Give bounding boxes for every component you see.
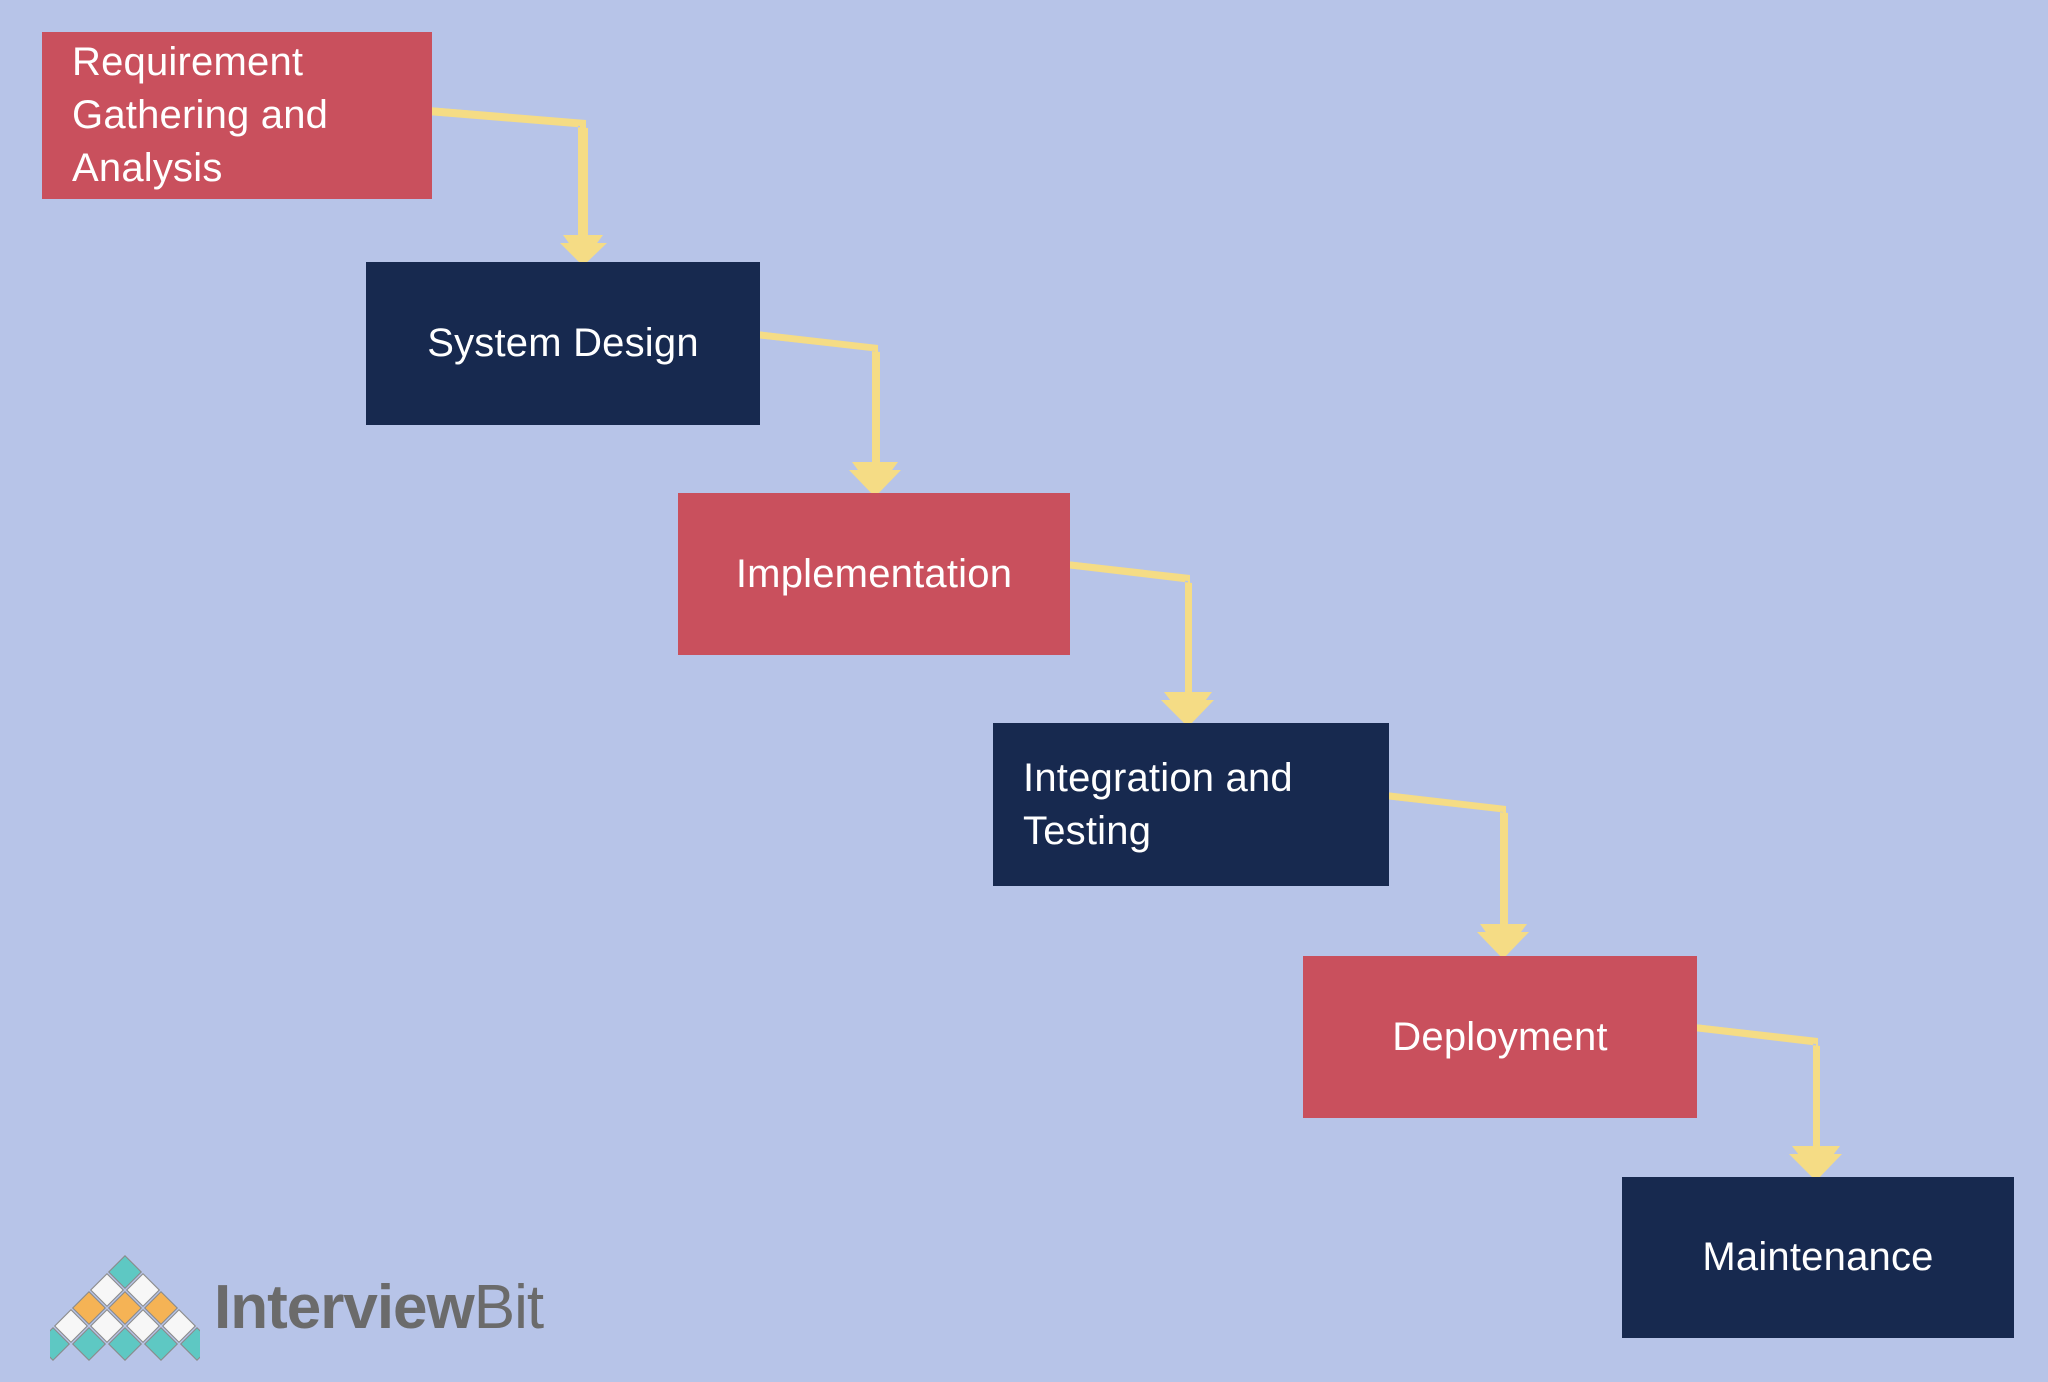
stage-label-integration-and-testing: Integration and Testing <box>1023 752 1293 858</box>
stage-label-implementation: Implementation <box>736 548 1012 601</box>
logo-word-bit: Bit <box>474 1273 543 1342</box>
interviewbit-logo-text: InterviewBit <box>214 1277 543 1339</box>
interviewbit-logo: InterviewBit <box>50 1248 550 1368</box>
stage-label-deployment: Deployment <box>1392 1011 1607 1064</box>
arrow-deployment-to-maintenance <box>1694 1024 1842 1181</box>
stage-box-integration-and-testing[interactable]: Integration and Testing <box>993 723 1389 886</box>
interviewbit-logo-mark <box>50 1251 200 1366</box>
diagram-canvas: Requirement Gathering and Analysis Syste… <box>0 0 2048 1382</box>
arrow-system-design-to-implementation <box>756 331 901 497</box>
stage-box-deployment[interactable]: Deployment <box>1303 956 1697 1118</box>
stage-label-requirement-gathering-and-analysis: Requirement Gathering and Analysis <box>72 36 328 194</box>
stage-label-maintenance: Maintenance <box>1702 1231 1933 1284</box>
arrow-implementation-to-integration <box>1066 561 1214 727</box>
stage-box-requirement-gathering-and-analysis[interactable]: Requirement Gathering and Analysis <box>42 32 432 199</box>
logo-word-interview: Interview <box>214 1273 474 1342</box>
arrow-integration-to-deployment <box>1385 792 1529 959</box>
stage-label-system-design: System Design <box>427 317 699 370</box>
stage-box-system-design[interactable]: System Design <box>366 262 760 425</box>
connector-layer <box>0 0 2048 1382</box>
stage-box-implementation[interactable]: Implementation <box>678 493 1070 655</box>
stage-box-maintenance[interactable]: Maintenance <box>1622 1177 2014 1338</box>
arrow-requirement-to-system-design <box>428 107 607 266</box>
